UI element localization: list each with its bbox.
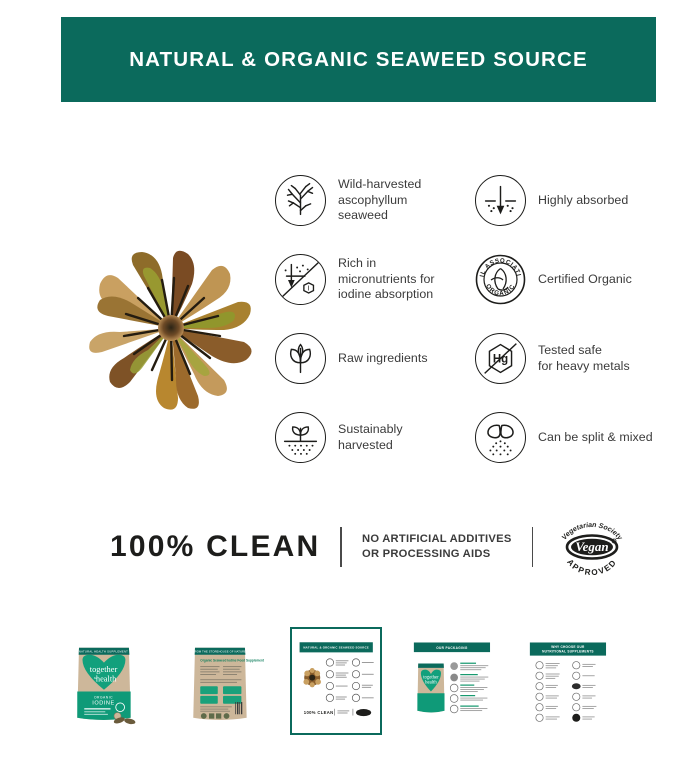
- feature-row: Raw ingredients Hg Tested safefor heavy …: [275, 333, 665, 384]
- svg-text:health: health: [96, 674, 117, 683]
- product-gallery-page: NATURAL & ORGANIC SEAWEED SOURCE: [0, 0, 692, 757]
- feature-sustainably-harvested: Sustainablyharvested: [275, 412, 465, 463]
- feature-label: Tested safefor heavy metals: [538, 343, 630, 374]
- svg-text:100% CLEAN: 100% CLEAN: [304, 710, 334, 715]
- feature-label: Raw ingredients: [338, 351, 428, 367]
- svg-text:OUR PACKAGING: OUR PACKAGING: [436, 646, 468, 650]
- thumbnail-product-back-pouch[interactable]: FROM THE STOREHOUSE OF NATURE Organic Se…: [174, 627, 266, 735]
- page-title: NATURAL & ORGANIC SEAWEED SOURCE: [129, 48, 588, 72]
- vegetarian-society-vegan-approved-icon: Vegetarian Society Vegan APPROVED: [553, 519, 631, 575]
- svg-text:NATURAL & ORGANIC SEAWEED SOUR: NATURAL & ORGANIC SEAWEED SOURCE: [303, 646, 369, 650]
- open-capsule-powder-icon: [475, 412, 526, 463]
- svg-text:I: I: [308, 284, 310, 293]
- thumbnail-infographic-our-packaging[interactable]: OUR PACKAGING together health: [406, 627, 498, 735]
- no-mercury-hg-icon: Hg: [475, 333, 526, 384]
- svg-text:together: together: [90, 665, 118, 674]
- feature-label: Sustainablyharvested: [338, 422, 403, 453]
- seedling-soil-icon: [275, 412, 326, 463]
- feature-label: Wild-harvestedascophyllumseaweed: [338, 177, 421, 224]
- leaf-sprout-icon: [275, 333, 326, 384]
- feature-tested-safe: Hg Tested safefor heavy metals: [475, 333, 665, 384]
- feature-highly-absorbed: Highly absorbed: [475, 175, 665, 226]
- thumbnail-infographic-why-choose[interactable]: WHY CHOOSE OUR NUTRITIONAL SUPPLEMENTS: [522, 627, 614, 735]
- section-banner: NATURAL & ORGANIC SEAWEED SOURCE: [61, 17, 656, 102]
- svg-text:IODINE: IODINE: [92, 701, 114, 707]
- clean-subtext-line2: OR PROCESSING AIDS: [362, 547, 512, 562]
- absorption-arrow-icon: [475, 175, 526, 226]
- thumbnail-infographic-seaweed-source[interactable]: NATURAL & ORGANIC SEAWEED SOURCE: [290, 627, 382, 735]
- clean-headline: 100% CLEAN: [110, 530, 320, 564]
- feature-grid: Wild-harvestedascophyllumseaweed: [275, 175, 665, 463]
- feature-certified-organic: SOIL ASSOCIATION ORGANIC: [475, 254, 665, 305]
- clean-claim-strip: 100% CLEAN NO ARTIFICIAL ADDITIVES OR PR…: [110, 516, 580, 578]
- feature-row: Sustainablyharvested: [275, 412, 665, 463]
- svg-text:health: health: [425, 681, 437, 686]
- svg-text:SOIL ASSOCIATION: SOIL ASSOCIATION: [475, 254, 522, 278]
- feature-label: Certified Organic: [538, 272, 632, 288]
- thumbnail-product-front-pouch[interactable]: NATURAL HEALTH SUPPLEMENT together for h…: [58, 627, 150, 735]
- soil-association-organic-icon: SOIL ASSOCIATION ORGANIC: [475, 254, 526, 305]
- feature-split-and-mixed: Can be split & mixed: [475, 412, 665, 463]
- svg-text:FROM THE STOREHOUSE OF NATURE: FROM THE STOREHOUSE OF NATURE: [193, 649, 246, 653]
- divider: [532, 527, 534, 567]
- svg-text:APPROVED: APPROVED: [565, 558, 619, 575]
- svg-text:WHY CHOOSE OUR: WHY CHOOSE OUR: [551, 645, 585, 649]
- soil-micronutrients-icon: I: [275, 254, 326, 305]
- feature-row: I Rich inmicronutrients foriodine absorp…: [275, 254, 665, 305]
- divider: [340, 527, 342, 567]
- feature-label: Rich inmicronutrients foriodine absorpti…: [338, 256, 435, 303]
- svg-text:Hg: Hg: [493, 353, 508, 365]
- svg-text:NATURAL HEALTH SUPPLEMENT: NATURAL HEALTH SUPPLEMENT: [79, 649, 128, 653]
- feature-label: Highly absorbed: [538, 193, 628, 209]
- feature-raw-ingredients: Raw ingredients: [275, 333, 465, 384]
- feature-label: Can be split & mixed: [538, 430, 653, 446]
- feature-row: Wild-harvestedascophyllumseaweed: [275, 175, 665, 226]
- feature-wild-harvested: Wild-harvestedascophyllumseaweed: [275, 175, 465, 226]
- clean-subtext: NO ARTIFICIAL ADDITIVES OR PROCESSING AI…: [362, 532, 512, 562]
- svg-text:together: together: [423, 675, 439, 680]
- svg-text:ORGANIC: ORGANIC: [94, 696, 113, 700]
- thumbnail-strip[interactable]: NATURAL HEALTH SUPPLEMENT together for h…: [58, 627, 638, 737]
- seaweed-branch-icon: [275, 175, 326, 226]
- svg-text:Vegan: Vegan: [576, 539, 609, 554]
- svg-text:Organic Seaweed Iodine Food Su: Organic Seaweed Iodine Food Supplement: [200, 659, 264, 663]
- clean-subtext-line1: NO ARTIFICIAL ADDITIVES: [362, 532, 512, 547]
- seaweed-photo: [78, 240, 264, 415]
- feature-micronutrients: I Rich inmicronutrients foriodine absorp…: [275, 254, 465, 305]
- svg-text:NUTRITIONAL SUPPLEMENTS: NUTRITIONAL SUPPLEMENTS: [542, 650, 594, 654]
